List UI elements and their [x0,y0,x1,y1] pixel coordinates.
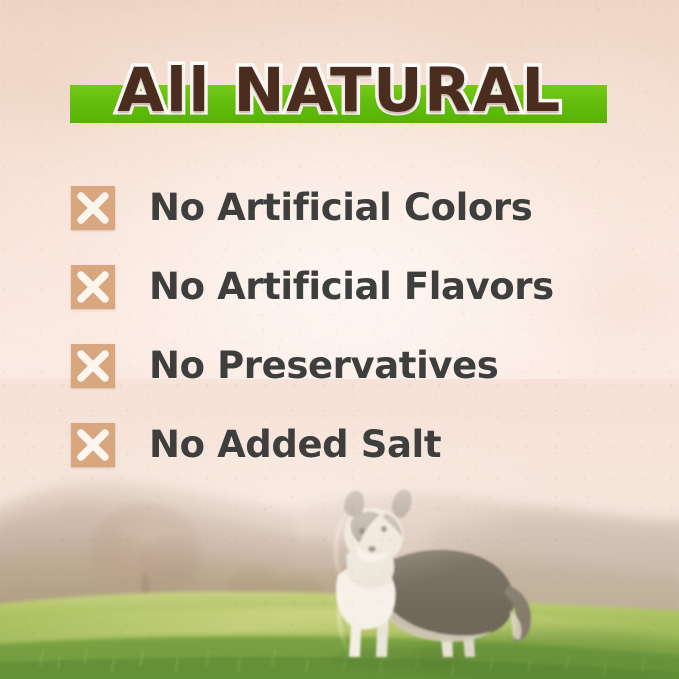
claim-label: No Preservatives [149,347,498,384]
x-mark-icon [71,344,115,388]
claim-label: No Artificial Flavors [149,268,554,305]
all-natural-poster: All NATURAL No Artificial Colors No Arti… [0,0,679,679]
claim-row: No Added Salt [0,405,679,484]
headline: All NATURAL [0,52,679,128]
claim-row: No Artificial Colors [0,168,679,247]
claim-row: No Preservatives [0,326,679,405]
claims-list: No Artificial Colors No Artificial Flavo… [0,168,679,484]
claim-row: No Artificial Flavors [0,247,679,326]
headline-title: All NATURAL [0,52,679,128]
claim-label: No Added Salt [149,426,441,463]
x-mark-icon [71,423,115,467]
x-mark-icon [71,186,115,230]
x-mark-icon [71,265,115,309]
claim-label: No Artificial Colors [149,189,532,226]
